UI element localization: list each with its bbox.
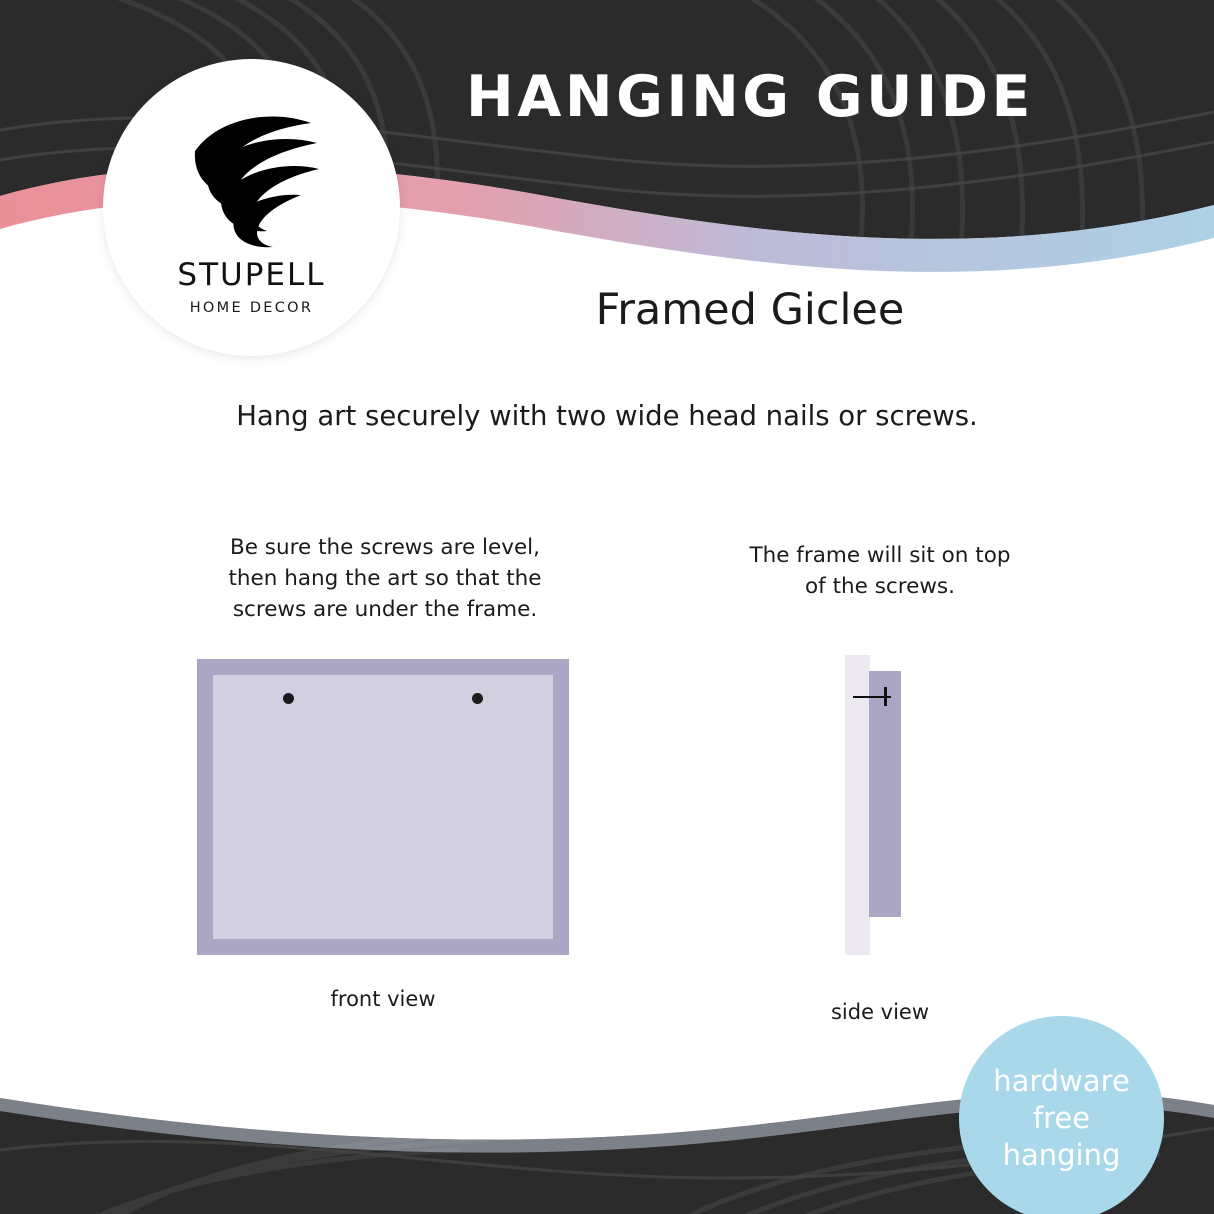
hanging-guide-page: STUPELL HOME DECOR HANGING GUIDE Framed … xyxy=(0,0,1214,1214)
brand-logo-badge: STUPELL HOME DECOR xyxy=(103,59,400,356)
front-view-label: front view xyxy=(197,987,569,1011)
product-type: Framed Giclee xyxy=(440,285,1060,335)
side-view-label: side view xyxy=(700,1000,1060,1024)
side-view-wall xyxy=(845,655,870,955)
page-title: HANGING GUIDE xyxy=(440,64,1060,130)
swoosh-logo-icon xyxy=(177,111,327,251)
badge-line-1: hardware xyxy=(993,1063,1130,1100)
badge-line-3: hanging xyxy=(1003,1137,1121,1174)
screw-dot-left-icon xyxy=(283,693,294,704)
side-view-caption-line1: The frame will sit on top xyxy=(690,540,1070,571)
front-view-caption-line2: then hang the art so that the xyxy=(190,563,580,594)
brand-tagline: HOME DECOR xyxy=(190,300,314,316)
nail-head-icon xyxy=(884,687,887,706)
side-view-caption: The frame will sit on top of the screws. xyxy=(690,540,1070,602)
side-view-caption-line2: of the screws. xyxy=(690,571,1070,602)
front-view-caption: Be sure the screws are level, then hang … xyxy=(190,532,580,625)
front-view-caption-line1: Be sure the screws are level, xyxy=(190,532,580,563)
screw-dot-right-icon xyxy=(472,693,483,704)
front-view-frame-inner xyxy=(213,675,553,939)
brand-name: STUPELL xyxy=(177,257,325,293)
front-view-caption-line3: screws are under the frame. xyxy=(190,594,580,625)
side-view-frame xyxy=(869,671,901,917)
hardware-free-badge: hardware free hanging xyxy=(959,1016,1164,1214)
main-instruction: Hang art securely with two wide head nai… xyxy=(0,400,1214,432)
front-view-frame-diagram xyxy=(197,659,569,955)
badge-line-2: free xyxy=(1033,1100,1090,1137)
